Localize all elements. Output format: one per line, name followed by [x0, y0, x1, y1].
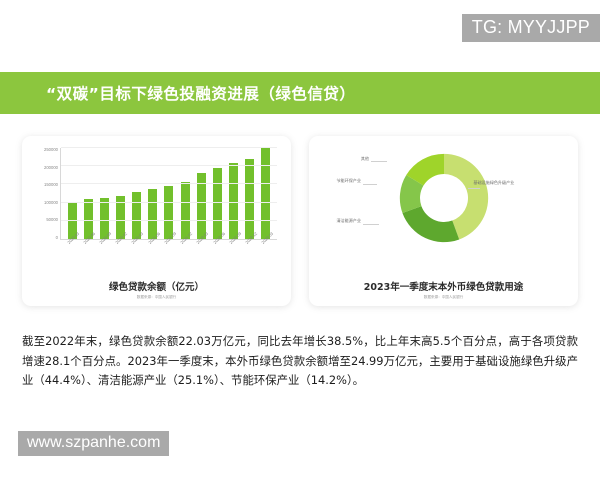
- donut-label-0: 基础设施绿色升级产业: [473, 180, 517, 186]
- banner-title: “双碳”目标下绿色投融资进展（绿色信贷）: [46, 82, 355, 104]
- bar-y-tick: 50000: [46, 218, 58, 222]
- bar-x-tick: 2023-03: [261, 236, 270, 245]
- donut-label-3: 其他: [341, 156, 369, 162]
- bar-series: [61, 148, 277, 239]
- bar: [245, 159, 254, 239]
- gridline: [61, 202, 277, 203]
- card-bar-chart: 250000200000150000100000500000 2020-0320…: [22, 136, 291, 306]
- bar-y-tick: 250000: [44, 148, 58, 152]
- bar-y-axis: 250000200000150000100000500000: [32, 148, 58, 240]
- donut-svg: [396, 150, 492, 246]
- gridline: [61, 147, 277, 148]
- card-donut-chart: 基础设施绿色升级产业 清洁能源产业 节能环保产业 其他 2023年一季度末本外币…: [309, 136, 578, 306]
- bar-x-tick: 2020-12: [115, 236, 124, 245]
- donut-chart-title: 2023年一季度末本外币绿色贷款用途: [319, 279, 568, 293]
- watermark-bottom-left: www.szpanhe.com: [18, 431, 169, 456]
- section-banner: “双碳”目标下绿色投融资进展（绿色信贷）: [0, 72, 600, 114]
- bar-chart-title: 绿色贷款余额（亿元）: [32, 279, 281, 293]
- donut-chart: 基础设施绿色升级产业 清洁能源产业 节能环保产业 其他: [319, 144, 568, 277]
- donut-chart-source: 数据来源：中国人民银行: [319, 295, 568, 300]
- gridline: [61, 183, 277, 184]
- gridline: [61, 165, 277, 166]
- charts-row: 250000200000150000100000500000 2020-0320…: [0, 136, 600, 306]
- donut-slice: [402, 206, 459, 242]
- bar-y-tick: 0: [56, 236, 58, 240]
- donut-label-2: 节能环保产业: [319, 178, 361, 184]
- bar-x-tick: 2022-03: [196, 236, 205, 245]
- bar-chart-source: 数据来源：中国人民银行: [32, 295, 281, 300]
- gridline: [61, 220, 277, 221]
- donut-leader-line: [363, 184, 377, 185]
- bar-x-axis: 2020-032020-062020-092020-122020-032021-…: [60, 242, 277, 264]
- body-paragraph: 截至2022年末，绿色贷款余额22.03万亿元，同比去年增长38.5%，比上年末…: [22, 332, 578, 391]
- donut-leader-line: [468, 188, 480, 189]
- donut-leader-line: [363, 224, 379, 225]
- bar: [213, 168, 222, 239]
- screenshot-root: TG: MYYJJPP “双碳”目标下绿色投融资进展（绿色信贷） 2500002…: [0, 0, 600, 480]
- bar: [261, 148, 270, 239]
- donut-label-1: 清洁能源产业: [321, 218, 361, 224]
- bar-plot-area: [60, 148, 277, 240]
- bar-chart: 250000200000150000100000500000 2020-0320…: [32, 144, 281, 277]
- bar-y-tick: 150000: [44, 183, 58, 187]
- bar-y-tick: 200000: [44, 166, 58, 170]
- donut-leader-line: [371, 161, 387, 162]
- bar-y-tick: 100000: [44, 201, 58, 205]
- bar-x-tick: 2020-03: [131, 236, 140, 245]
- watermark-top-right: TG: MYYJJPP: [462, 14, 600, 42]
